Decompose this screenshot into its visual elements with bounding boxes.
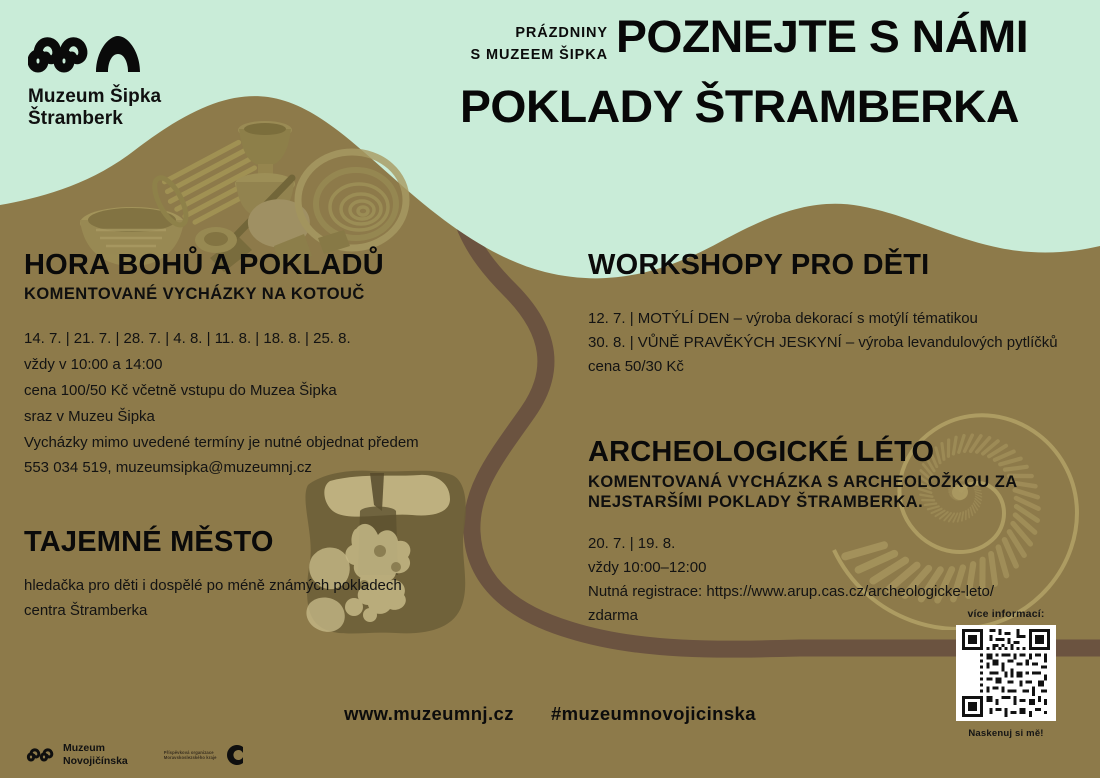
section-hora-body: 14. 7. | 21. 7. | 28. 7. | 4. 8. | 11. 8…: [24, 326, 494, 481]
logo-line-1: Muzeum Šipka: [28, 86, 228, 108]
section-tajemne-title: TAJEMNÉ MĚSTO: [24, 527, 494, 558]
page-title-line-2: POKLADY ŠTRAMBERKA: [460, 84, 1019, 130]
footer-logos: Muzeum Novojičínska Příspěvková organiza…: [26, 742, 249, 768]
logo-text: Muzeum Šipka Štramberk: [28, 86, 228, 131]
hora-line-4: sraz v Muzeu Šipka: [24, 404, 494, 430]
section-tajemne-mesto: TAJEMNÉ MĚSTO hledačka pro děti i dospěl…: [24, 527, 494, 624]
kicker-line-2: S MUZEEM ŠIPKA: [440, 44, 608, 66]
page-title-line-1: POZNEJTE S NÁMI: [616, 14, 1028, 60]
archeo-line-1: 20. 7. | 19. 8.: [588, 532, 1088, 556]
section-archeo-subtitle-2: NEJSTARŠÍMI POKLADY ŠTRAMBERKA.: [588, 492, 1088, 512]
muzeum-sipka-logo-mark: [28, 28, 148, 80]
poster: Muzeum Šipka Štramberk PRÁZDNINY S MUZEE…: [0, 0, 1100, 778]
footer-website[interactable]: www.muzeumnj.cz: [344, 703, 514, 725]
section-hora-bohu: HORA BOHŮ A POKLADŮ KOMENTOVANÉ VYCHÁZKY…: [24, 250, 494, 481]
muzeum-novojicinska-logo: Muzeum Novojičínska: [26, 742, 128, 768]
hora-line-5: Vycházky mimo uvedené termíny je nutné o…: [24, 430, 494, 456]
qr-label-top: více informací:: [952, 608, 1060, 620]
section-hora-subtitle: KOMENTOVANÉ VYCHÁZKY NA KOTOUČ: [24, 284, 494, 304]
section-archeo-subtitle-1: KOMENTOVANÁ VYCHÁZKA S ARCHEOLOŽKOU ZA: [588, 472, 1088, 492]
muzeum-novojicinska-logo-text: Muzeum Novojičínska: [63, 742, 128, 768]
right-column: WORKSHOPY PRO DĚTI 12. 7. | MOTÝLÍ DEN –…: [588, 250, 1088, 628]
section-hora-title: HORA BOHŮ A POKLADŮ: [24, 250, 494, 281]
archeo-line-2: vždy 10:00–12:00: [588, 556, 1088, 580]
moravskoslezsky-kraj-logo: Příspěvková organizace Moravskoslezského…: [164, 742, 249, 768]
hora-line-3: cena 100/50 Kč včetně vstupu do Muzea Ši…: [24, 378, 494, 404]
headline-kicker: PRÁZDNINY S MUZEEM ŠIPKA: [440, 22, 608, 67]
footer-logo2-line2: Moravskoslezského kraje: [164, 755, 217, 760]
footer-links: www.muzeumnj.cz #muzeumnovojicinska: [0, 703, 1100, 725]
qr-label-bottom: Naskenuj si mě!: [952, 728, 1060, 739]
left-column: HORA BOHŮ A POKLADŮ KOMENTOVANÉ VYCHÁZKY…: [24, 250, 494, 624]
moravskoslezsky-kraj-logo-mark: [223, 742, 249, 768]
section-workshopy-body: 12. 7. | MOTÝLÍ DEN – výroba dekorací s …: [588, 307, 1088, 379]
workshopy-line-2: 30. 8. | VŮNĚ PRAVĚKÝCH JESKYNÍ – výroba…: [588, 331, 1088, 355]
tajemne-line-2: centra Štramberka: [24, 598, 494, 624]
footer-logo1-line2: Novojičínska: [63, 755, 128, 768]
section-archeo-title: ARCHEOLOGICKÉ LÉTO: [588, 437, 1088, 468]
logo-line-2: Štramberk: [28, 108, 228, 130]
hora-line-1: 14. 7. | 21. 7. | 28. 7. | 4. 8. | 11. 8…: [24, 326, 494, 352]
section-tajemne-body: hledačka pro děti i dospělé po méně znám…: [24, 573, 494, 625]
hora-line-6-contact[interactable]: 553 034 519, muzeumsipka@muzeumnj.cz: [24, 455, 494, 481]
archeo-registration-link[interactable]: Nutná registrace: https://www.arup.cas.c…: [588, 580, 1088, 604]
workshopy-line-3: cena 50/30 Kč: [588, 355, 1088, 379]
footer-logo1-line1: Muzeum: [63, 742, 128, 755]
muzeum-novojicinska-logo-mark: [26, 747, 56, 763]
tajemne-line-1: hledačka pro děti i dospělé po méně znám…: [24, 573, 494, 599]
section-workshopy: WORKSHOPY PRO DĚTI 12. 7. | MOTÝLÍ DEN –…: [588, 250, 1088, 379]
section-workshopy-title: WORKSHOPY PRO DĚTI: [588, 250, 1088, 281]
kicker-line-1: PRÁZDNINY: [440, 22, 608, 44]
footer-hashtag[interactable]: #muzeumnovojicinska: [551, 703, 756, 725]
section-archeologicke-leto: ARCHEOLOGICKÉ LÉTO KOMENTOVANÁ VYCHÁZKA …: [588, 437, 1088, 628]
muzeum-sipka-logo: Muzeum Šipka Štramberk: [28, 28, 228, 131]
hora-line-2: vždy v 10:00 a 14:00: [24, 352, 494, 378]
moravskoslezsky-kraj-logo-text: Příspěvková organizace Moravskoslezského…: [164, 750, 217, 761]
workshopy-line-1: 12. 7. | MOTÝLÍ DEN – výroba dekorací s …: [588, 307, 1088, 331]
